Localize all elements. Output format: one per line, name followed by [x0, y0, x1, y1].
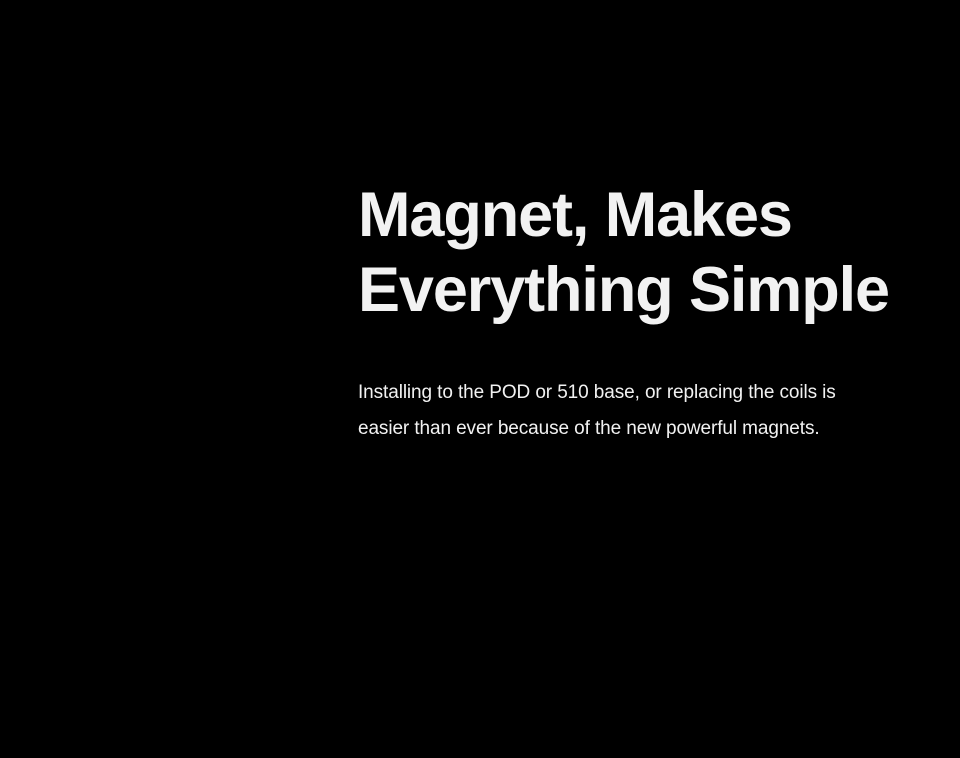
hero-copy-block: Magnet, Makes Everything Simple Installi… — [358, 178, 898, 447]
hero-heading: Magnet, Makes Everything Simple — [358, 178, 898, 328]
hero-visual-area — [0, 0, 358, 758]
hero-section: Magnet, Makes Everything Simple Installi… — [0, 0, 960, 758]
hero-body-text: Installing to the POD or 510 base, or re… — [358, 328, 858, 447]
